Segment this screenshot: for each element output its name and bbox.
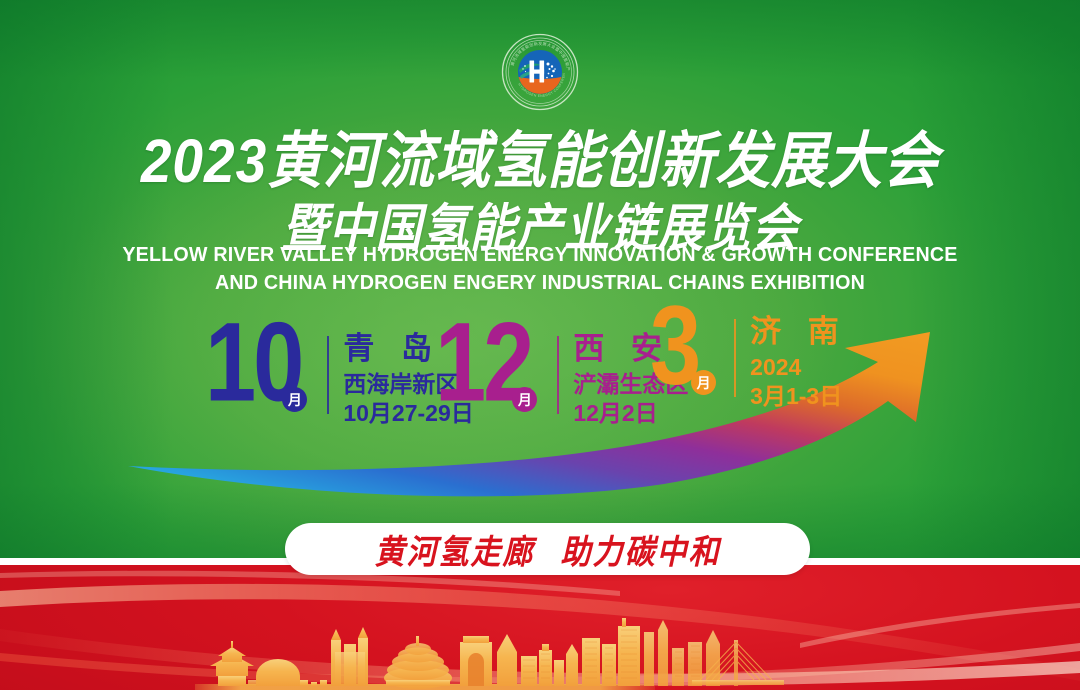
event-month-badge: 3 月 <box>650 313 698 397</box>
event-divider <box>327 336 329 414</box>
red-footer-background <box>0 565 1080 690</box>
event-month-badge: 12 月 <box>435 330 531 414</box>
event-schedule-list: 10 月 青 岛 西海岸新区 10月27-29日 12 月 西 安 浐灞生态区 … <box>0 0 1080 562</box>
slogan-banner: 黄河氢走廊助力碳中和 <box>285 523 810 575</box>
conference-poster: 黄河流域氢能创新发展大会暨中国氢能产业链展览会 HYDROGEN ENERGY … <box>0 0 1080 690</box>
city-skyline-silhouette <box>0 600 1080 690</box>
event-venue: 2024 <box>750 353 848 381</box>
event-divider <box>557 336 559 414</box>
event-divider <box>734 319 736 397</box>
event-text-group: 济 南 2024 3月1-3日 <box>750 313 848 410</box>
slogan-part-2: 助力碳中和 <box>561 534 721 571</box>
event-date: 3月1-3日 <box>750 382 848 410</box>
slogan-part-1: 黄河氢走廊 <box>375 534 535 571</box>
event-item-jinan: 3 月 济 南 2024 3月1-3日 <box>650 313 848 410</box>
slogan-text: 黄河氢走廊助力碳中和 <box>375 524 721 573</box>
event-item-qingdao: 10 月 青 岛 西海岸新区 10月27-29日 <box>205 330 474 427</box>
event-month-badge: 10 月 <box>205 330 301 414</box>
event-month-unit: 月 <box>691 370 716 395</box>
event-city-name: 济 南 <box>750 315 848 349</box>
event-month-unit: 月 <box>282 387 307 412</box>
event-month-unit: 月 <box>512 387 537 412</box>
